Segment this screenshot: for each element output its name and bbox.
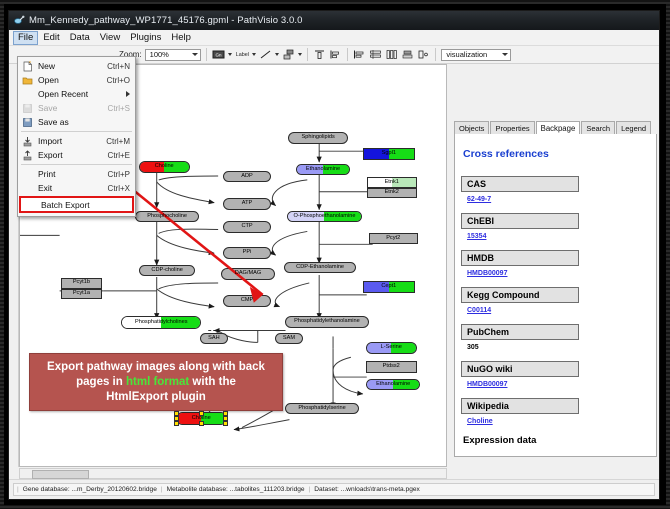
node-label: Ptdss2 <box>383 364 400 370</box>
svg-text:Gn: Gn <box>215 53 222 58</box>
no-icon <box>24 199 37 211</box>
file-menu-item-accelerator: Ctrl+M <box>106 137 132 146</box>
status-divider-0: | <box>17 486 19 493</box>
callout-line-3: HtmlExport plugin <box>106 390 206 405</box>
window-title: Mm_Kennedy_pathway_WP1771_45176.gpml - P… <box>29 15 303 26</box>
selection-handle[interactable] <box>174 421 179 426</box>
pathway-node-etnk1[interactable]: Etnk1 <box>367 177 417 188</box>
cross-references-list: CAS62-49-7ChEBI15354HMDBHMDB00097Kegg Co… <box>461 176 652 425</box>
pathway-node-cdp-choline[interactable]: CDP-choline <box>139 265 196 277</box>
pathway-node-sam[interactable]: SAM <box>275 333 302 345</box>
node-label: Phosphocholine <box>147 214 187 220</box>
shape-dropdown-icon[interactable] <box>298 53 302 56</box>
node-label: Pcyt1b <box>73 280 90 286</box>
import-icon <box>21 135 34 147</box>
xref-source-cas: CAS <box>461 176 579 192</box>
status-gene-database: Gene database: ...m_Derby_20120602.bridg… <box>23 486 157 493</box>
node-label: Phosphatidylcholines <box>135 320 188 326</box>
pathway-node-cept1[interactable]: Cept1 <box>363 281 415 293</box>
pathway-node-ppi[interactable]: PPi <box>223 247 272 259</box>
annotation-callout: Export pathway images along with back pa… <box>29 353 283 411</box>
file-menu-item-accelerator: Ctrl+O <box>107 76 132 85</box>
menu-data[interactable]: Data <box>65 31 95 45</box>
expression-data-heading: Expression data <box>463 435 652 446</box>
xref-value-cas[interactable]: 62-49-7 <box>467 196 652 203</box>
node-label: ADP <box>241 174 253 180</box>
chevron-down-icon <box>192 53 198 56</box>
node-label: Phosphatidylserine <box>298 406 345 412</box>
xref-source-pubchem: PubChem <box>461 324 579 340</box>
tab-legend[interactable]: Legend <box>616 121 651 134</box>
menu-plugins[interactable]: Plugins <box>125 31 166 45</box>
tab-backpage[interactable]: Backpage <box>536 121 581 136</box>
node-label: CDP-choline <box>151 268 182 274</box>
screenshot-root: Mm_Kennedy_pathway_WP1771_45176.gpml - P… <box>0 0 670 509</box>
xref-value-hmdb[interactable]: HMDB00097 <box>467 270 652 277</box>
title-bar: Mm_Kennedy_pathway_WP1771_45176.gpml - P… <box>9 11 659 30</box>
chevron-down-icon-2 <box>502 53 508 56</box>
new-file-icon <box>21 60 34 72</box>
file-menu-item-accelerator: Ctrl+X <box>108 184 132 193</box>
callout-line-2-b: with the <box>189 376 236 388</box>
pathway-node-cmp[interactable]: CMP <box>223 295 272 307</box>
file-menu-item-label: New <box>34 61 107 71</box>
zoom-combo[interactable]: 100% <box>145 49 201 61</box>
stack-icon[interactable] <box>401 48 414 61</box>
pathway-node-o-phosphoethanolamine[interactable]: O-Phosphoethanolamine <box>287 211 362 223</box>
toolbar-divider-3 <box>347 48 348 61</box>
node-label: CDP-Ethanolamine <box>296 265 344 271</box>
callout-line-1: Export pathway images along with back <box>47 360 265 375</box>
selection-handle[interactable] <box>199 411 204 416</box>
group-icon[interactable] <box>417 48 430 61</box>
status-divider-2: | <box>309 486 311 493</box>
pathway-node-ctp[interactable]: CTP <box>223 221 272 233</box>
export-icon <box>21 149 34 161</box>
save-as-icon <box>21 116 34 128</box>
align-left-icon[interactable] <box>329 48 342 61</box>
file-menu-item-label: Open Recent <box>34 89 126 99</box>
sidebar-tabstrip: Objects Properties Backpage Search Legen… <box>454 120 657 134</box>
tab-properties[interactable]: Properties <box>490 121 534 134</box>
backpage-panel: Cross references CAS62-49-7ChEBI15354HMD… <box>454 134 657 457</box>
toolbar-divider-2 <box>307 48 308 61</box>
menu-edit[interactable]: Edit <box>38 31 64 45</box>
node-label: L-Serine <box>381 345 402 351</box>
file-menu-dropdown[interactable]: NewCtrl+NOpenCtrl+OOpen RecentSaveCtrl+S… <box>17 56 136 217</box>
shape-tool-icon[interactable] <box>282 48 295 61</box>
file-menu-item-new[interactable]: NewCtrl+N <box>18 59 135 73</box>
selection-handle[interactable] <box>223 421 228 426</box>
toolbar-divider <box>206 48 207 61</box>
file-menu-item-label: Save <box>34 103 108 113</box>
node-label: Etnk2 <box>385 190 399 196</box>
pathway-node-cdp-ethanolamine[interactable]: CDP-Ethanolamine <box>284 262 356 274</box>
file-menu-item-label: Import <box>34 136 106 146</box>
xref-value-kegg-compound[interactable]: C00114 <box>467 307 652 314</box>
file-menu-item-label: Open <box>34 75 107 85</box>
pathway-node-phosphatidylcholines[interactable]: Phosphatidylcholines <box>121 316 201 328</box>
xref-source-chebi: ChEBI <box>461 213 579 229</box>
pathway-node-pcyt1a[interactable]: Pcyt1a <box>61 289 102 300</box>
file-menu-item-print[interactable]: PrintCtrl+P <box>18 167 135 181</box>
node-label: Phosphatidylethanolamine <box>294 319 360 325</box>
menu-separator <box>21 164 132 165</box>
file-menu-item-accelerator: Ctrl+P <box>108 170 132 179</box>
pathway-node-ptdss2[interactable]: Ptdss2 <box>366 361 417 373</box>
no-icon <box>21 88 34 100</box>
no-icon <box>21 182 34 194</box>
pathway-node-l-serine[interactable]: L-Serine <box>366 342 417 354</box>
xref-source-nugo-wiki: NuGO wiki <box>461 361 579 377</box>
file-menu-item-label: Exit <box>34 183 108 193</box>
pathway-node-phosphatidylethanolamine[interactable]: Phosphatidylethanolamine <box>285 316 369 328</box>
label-tool-label[interactable]: Label <box>235 52 248 57</box>
node-label: CTP <box>241 224 252 230</box>
canvas-hscrollbar[interactable] <box>19 468 447 479</box>
menu-view[interactable]: View <box>95 31 125 45</box>
menu-file[interactable]: File <box>13 31 38 45</box>
node-label: Pcyt2 <box>386 236 400 242</box>
xref-value-wikipedia[interactable]: Choline <box>467 418 652 425</box>
file-menu-item-save: SaveCtrl+S <box>18 101 135 115</box>
status-dataset: Dataset: ...wnloads\trans-meta.pgex <box>314 486 420 493</box>
file-menu-item-label: Export <box>34 150 108 160</box>
pathvisio-window: Mm_Kennedy_pathway_WP1771_45176.gpml - P… <box>8 10 660 500</box>
xref-source-wikipedia: Wikipedia <box>461 398 579 414</box>
pathway-node-phosphatidylserine[interactable]: Phosphatidylserine <box>285 403 359 415</box>
xref-source-hmdb: HMDB <box>461 250 579 266</box>
callout-line-2: pages in html format with the <box>76 375 236 390</box>
tab-objects[interactable]: Objects <box>454 121 489 134</box>
node-label: Ethanolamine <box>376 382 410 388</box>
pathway-node-choline-top[interactable]: Choline <box>139 161 190 173</box>
distribute-v-icon[interactable] <box>385 48 398 61</box>
menu-help[interactable]: Help <box>166 31 196 45</box>
datanode-dropdown-icon[interactable] <box>228 53 232 56</box>
toolbar-divider-4 <box>435 48 436 61</box>
node-label: Sgpl1 <box>382 151 396 157</box>
pathway-node-pcyt2[interactable]: Pcyt2 <box>369 233 418 245</box>
node-label: Choline <box>155 164 174 170</box>
pathway-node-choline-selected[interactable]: Choline <box>176 412 227 424</box>
submenu-arrow-icon <box>126 91 130 97</box>
pathway-node-sphingolipids[interactable]: Sphingolipids <box>288 132 348 144</box>
distribute-h-icon[interactable] <box>369 48 382 61</box>
line-tool-icon[interactable] <box>259 48 272 61</box>
status-metabolite-database: Metabolite database: ...tabolites_111203… <box>167 486 305 493</box>
file-menu-item-label: Batch Export <box>37 200 129 210</box>
file-menu-item-label: Print <box>34 169 108 179</box>
folder-open-icon <box>21 74 34 86</box>
file-menu-item-import[interactable]: ImportCtrl+M <box>18 134 135 148</box>
pathvisio-icon <box>14 15 25 26</box>
canvas-hscroll-thumb[interactable] <box>32 470 89 479</box>
save-icon <box>21 102 34 114</box>
callout-line-2-a: pages in <box>76 376 126 388</box>
menu-separator <box>21 131 132 132</box>
node-label: Pcyt1a <box>73 291 90 297</box>
file-menu-item-accelerator: Ctrl+S <box>108 104 132 113</box>
file-menu-item-accelerator: Ctrl+N <box>107 62 132 71</box>
file-menu-item-exit[interactable]: ExitCtrl+X <box>18 181 135 195</box>
xref-value-chebi[interactable]: 15354 <box>467 233 652 240</box>
status-bar: | Gene database: ...m_Derby_20120602.bri… <box>9 479 659 499</box>
align-left-2-icon[interactable] <box>353 48 366 61</box>
visualization-combo[interactable]: visualization <box>441 49 511 61</box>
node-label: DAG/MAG <box>235 271 261 277</box>
pathway-node-sgpl1[interactable]: Sgpl1 <box>363 148 415 160</box>
file-menu-item-label: Save as <box>34 117 132 127</box>
pathway-node-pcyt1b[interactable]: Pcyt1b <box>61 278 102 289</box>
status-divider-1: | <box>161 486 163 493</box>
file-menu-item-batch-export[interactable]: Batch Export <box>19 196 134 213</box>
pathway-node-atp[interactable]: ATP <box>223 198 272 210</box>
pathway-node-etnk2[interactable]: Etnk2 <box>367 188 417 199</box>
datanode-icon[interactable]: Gn <box>212 48 225 61</box>
file-menu-item-export[interactable]: ExportCtrl+E <box>18 148 135 162</box>
menu-bar: File Edit Data View Plugins Help <box>9 30 659 46</box>
node-label: ATP <box>242 201 252 207</box>
node-label: CMP <box>241 298 253 304</box>
file-menu-item-open[interactable]: OpenCtrl+O <box>18 73 135 87</box>
xref-value-pubchem: 305 <box>467 344 652 351</box>
node-label: PPi <box>243 250 252 256</box>
pathway-node-adp[interactable]: ADP <box>223 171 272 183</box>
side-panel: Objects Properties Backpage Search Legen… <box>449 117 659 459</box>
no-icon <box>21 168 34 180</box>
pathway-node-ethanolamine-1[interactable]: Ethanolamine <box>296 164 351 176</box>
node-label: Sphingolipids <box>302 135 335 141</box>
node-label: Etnk1 <box>385 180 399 186</box>
node-label: SAH <box>208 336 220 342</box>
node-label: SAM <box>283 336 295 342</box>
cross-references-heading: Cross references <box>463 148 652 160</box>
selection-handle[interactable] <box>199 421 204 426</box>
zoom-value: 100% <box>148 50 169 59</box>
visualization-value: visualization <box>444 50 487 59</box>
pathway-node-phosphocholine[interactable]: Phosphocholine <box>135 211 199 223</box>
file-menu-item-accelerator: Ctrl+E <box>108 151 132 160</box>
node-label: O-Phosphoethanolamine <box>294 214 356 220</box>
node-label: Ethanolamine <box>306 167 340 173</box>
xref-value-nugo-wiki[interactable]: HMDB00097 <box>467 381 652 388</box>
file-menu-item-open-recent[interactable]: Open Recent <box>18 87 135 101</box>
line-dropdown-icon[interactable] <box>275 53 279 56</box>
callout-highlight: html format <box>126 376 189 388</box>
pathway-node-ethanolamine-2[interactable]: Ethanolamine <box>366 379 421 391</box>
tab-search[interactable]: Search <box>581 121 615 134</box>
pathway-node-sah[interactable]: SAH <box>200 333 227 345</box>
align-top-icon[interactable] <box>313 48 326 61</box>
file-menu-item-save-as[interactable]: Save as <box>18 115 135 129</box>
label-dropdown-icon[interactable] <box>252 53 256 56</box>
pathway-node-dag-mag[interactable]: DAG/MAG <box>221 268 276 280</box>
xref-source-kegg-compound: Kegg Compound <box>461 287 579 303</box>
node-label: Cept1 <box>381 284 396 290</box>
